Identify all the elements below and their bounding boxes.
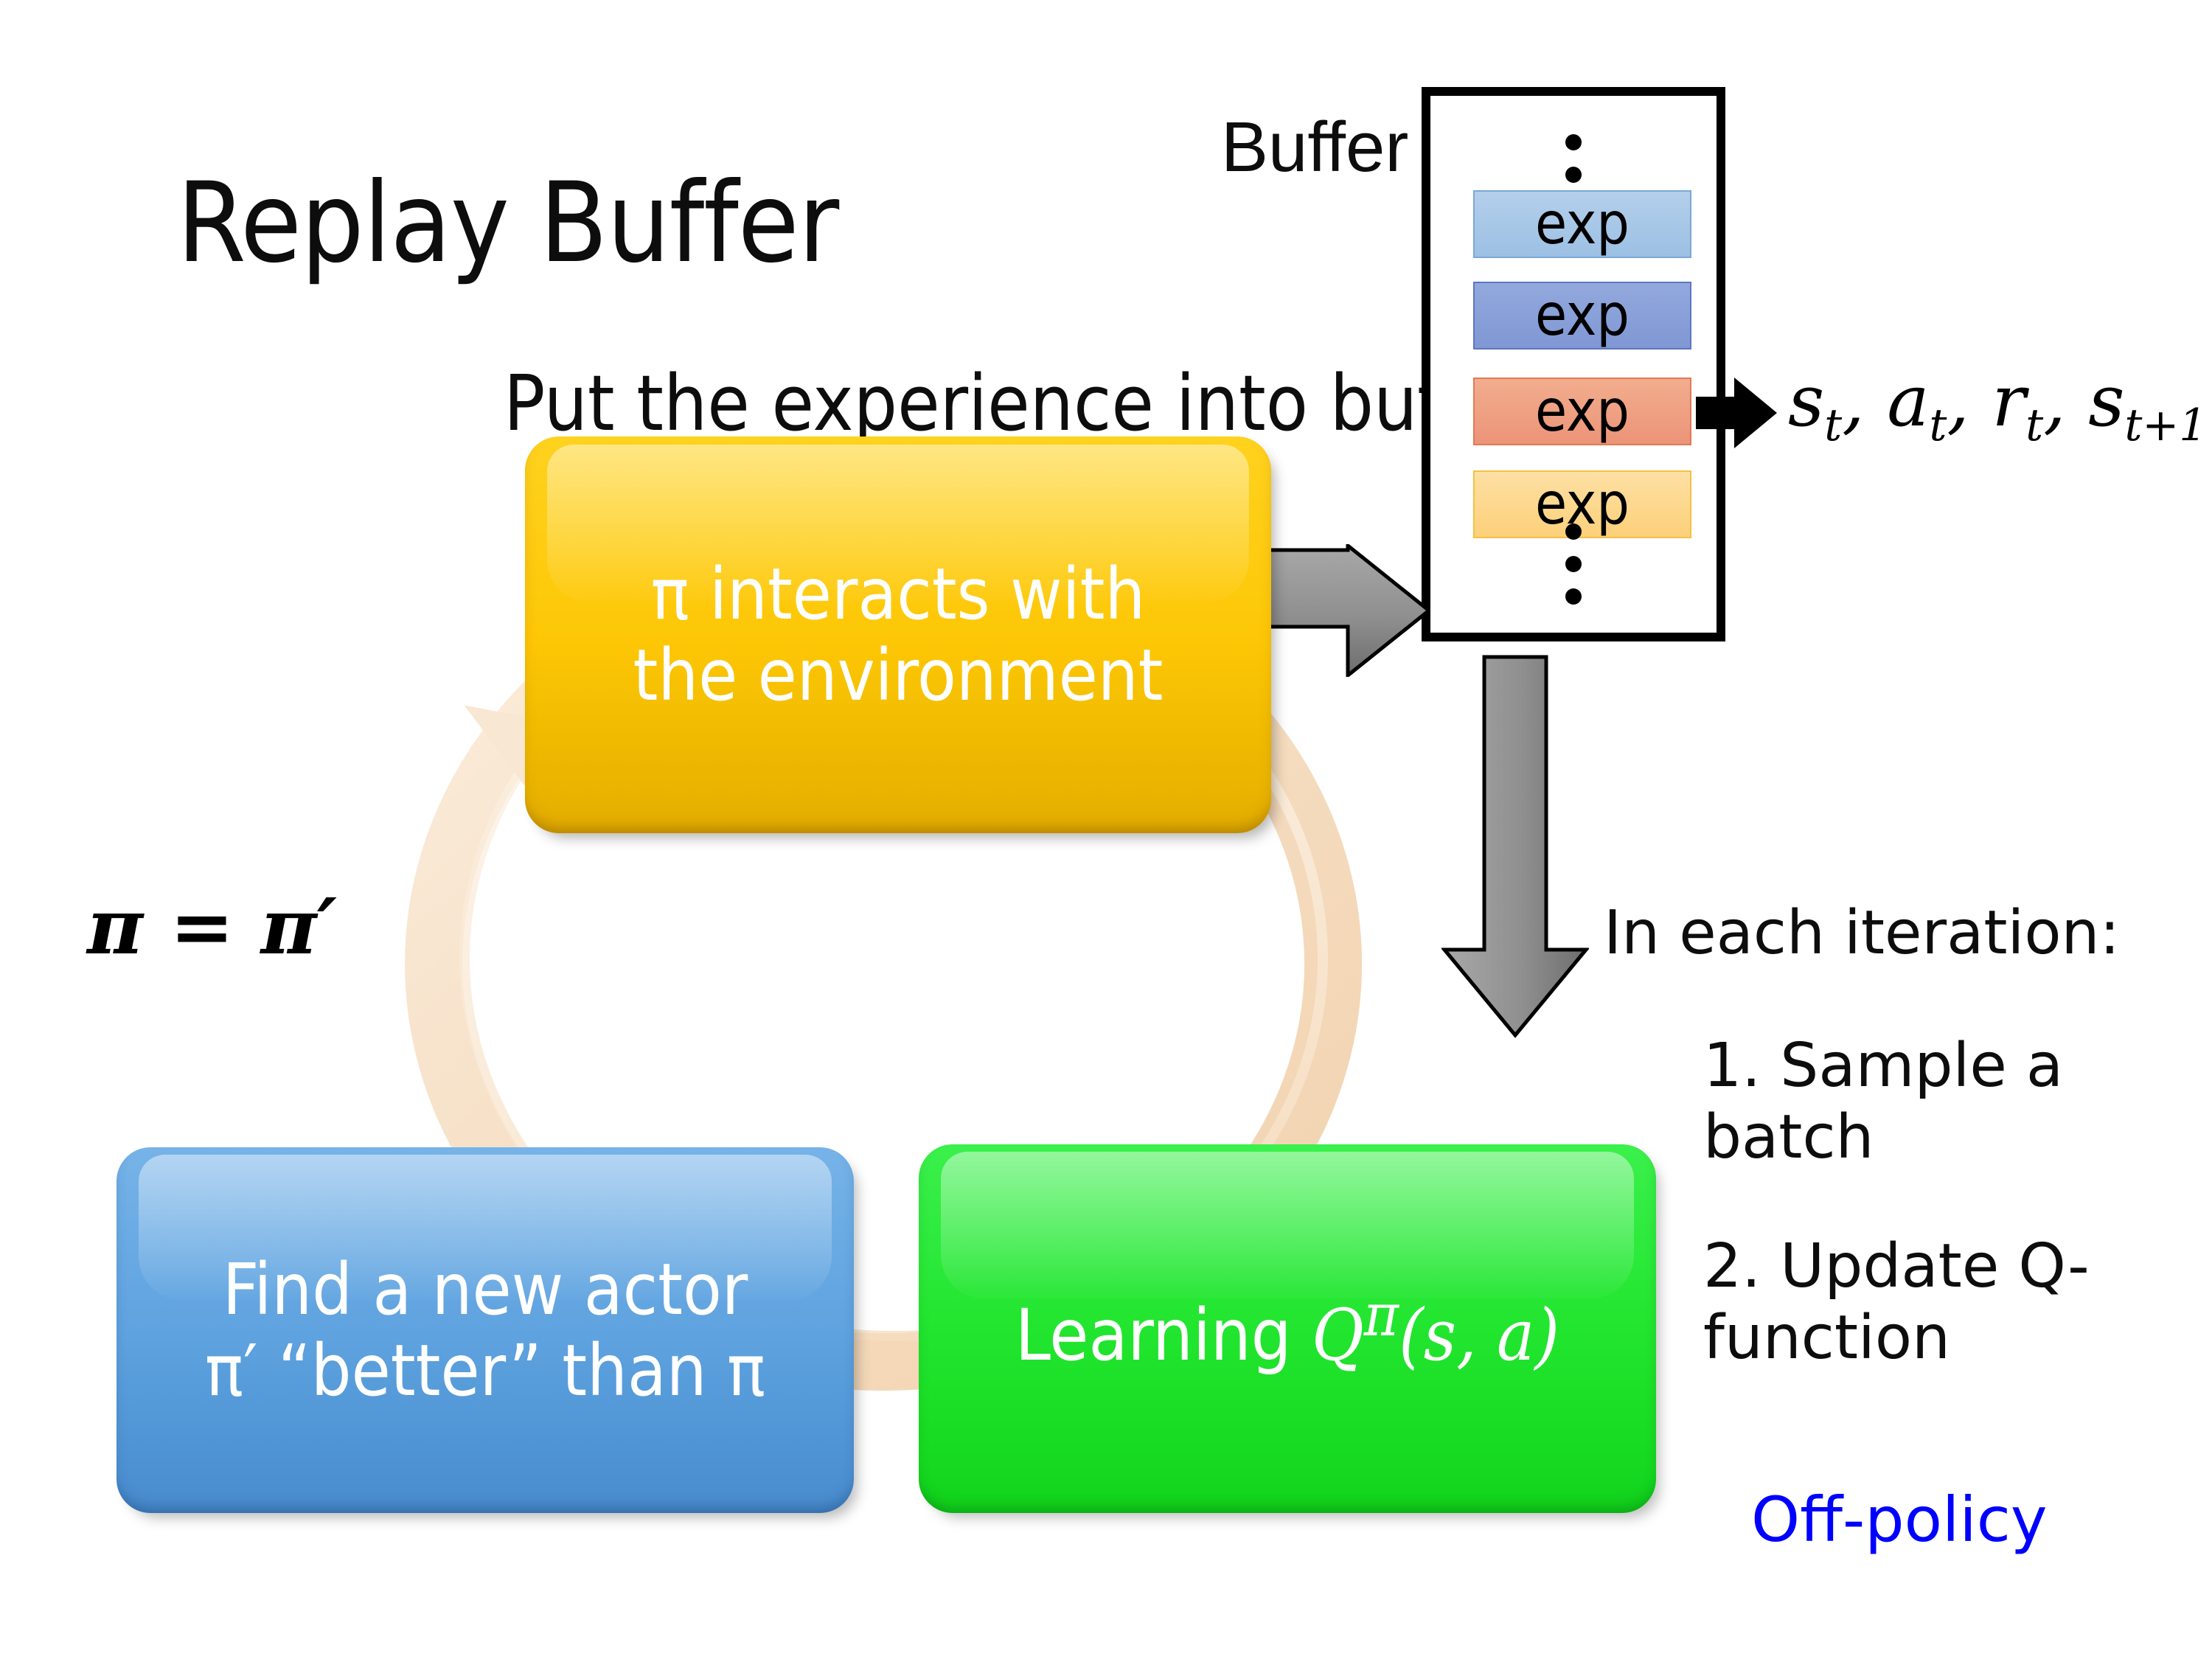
buffer-entry-label: exp [1535,287,1630,344]
buffer-label: Buffer [1221,112,1408,183]
replay-buffer-box: exp exp exp exp [1422,87,1725,641]
buffer-entry-3[interactable]: exp [1473,378,1691,445]
sample-arrow-icon [1696,378,1777,448]
sep-3: , [2043,360,2088,442]
transition-tuple-formula: st, at, rt, st+1 [1788,366,2207,448]
box-line-1: Find a new actor [223,1248,748,1331]
buffer-entry-2[interactable]: exp [1473,282,1691,349]
sep-1: , [1842,360,1887,442]
action-t-symbol: a [1887,360,1929,442]
reward-t-symbol: r [1992,360,2025,442]
q-arguments: (s, a) [1399,1294,1559,1377]
box-line-2: π′ “better” than π [205,1329,765,1412]
iteration-heading: In each iteration: [1604,898,2120,970]
put-experience-caption: Put the experience into buffer. [504,365,1551,442]
policy-update-equation: π = π′ [87,888,337,965]
box-policy-interacts-environment[interactable]: π interacts with the environment [525,437,1271,833]
box-find-new-actor[interactable]: Find a new actor π′ “better” than π [116,1147,854,1513]
learning-prefix: Learning [1015,1294,1312,1377]
next-state-symbol: s [2088,360,2124,442]
q-symbol: Q [1312,1294,1364,1377]
box-line-1: π interacts with [651,553,1146,636]
action-t-subscript: t [1929,400,1947,451]
q-superscript-pi: π [1364,1281,1399,1349]
iteration-step-2: 2. Update Q-function [1703,1231,2116,1374]
next-state-subscript: t+1 [2125,400,2208,451]
state-t-subscript: t [1824,400,1842,451]
buffer-entry-label: exp [1535,195,1630,253]
sep-2: , [1947,360,1992,442]
off-policy-tag: Off-policy [1751,1484,2048,1557]
box-learning-q-function[interactable]: Learning Qπ(s, a) [919,1144,1656,1513]
state-t-symbol: s [1788,360,1824,442]
iteration-step-1: 1. Sample a batch [1703,1031,2094,1174]
box-label: Find a new actor π′ “better” than π [186,1249,785,1412]
box-label: Learning Qπ(s, a) [996,1281,1579,1376]
slide-canvas: Replay Buffer Put the experience into bu… [0,0,2212,1659]
buffer-entry-1[interactable]: exp [1473,190,1691,258]
buffer-entry-label: exp [1535,383,1630,440]
buffer-ellipsis-bottom-icon [1430,524,1717,621]
box-line-2: the environment [633,634,1163,717]
push-to-buffer-arrow-icon [1253,544,1430,677]
sample-batch-arrow-icon [1441,655,1589,1038]
box-sheen [941,1152,1634,1299]
box-label: π interacts with the environment [613,554,1182,717]
reward-t-subscript: t [2025,400,2043,451]
page-title: Replay Buffer [177,168,838,279]
